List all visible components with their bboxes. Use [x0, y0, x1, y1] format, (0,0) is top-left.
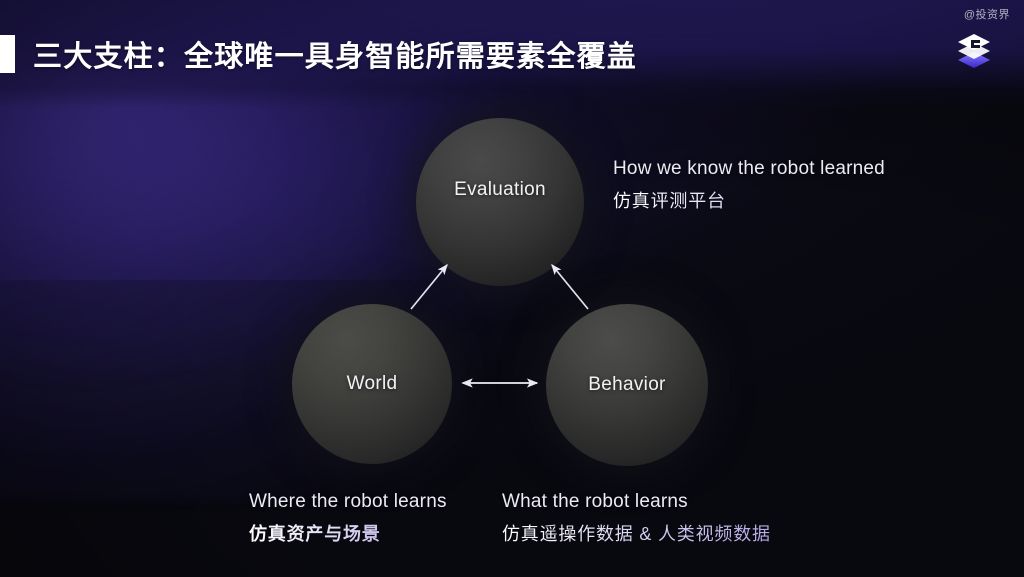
- caption-world: Where the robot learns 仿真资产与场景: [249, 491, 447, 546]
- caption-behavior-english: What the robot learns: [502, 491, 771, 513]
- caption-world-english: Where the robot learns: [249, 491, 447, 513]
- slide-canvas: 三大支柱：全球唯一具身智能所需要素全覆盖 @投资界 Evaluation Wo: [0, 0, 1024, 577]
- caption-behavior-chinese: 仿真遥操作数据 & 人类视频数据: [502, 520, 771, 546]
- node-world-label: World: [347, 373, 398, 395]
- caption-behavior: What the robot learns 仿真遥操作数据 & 人类视频数据: [502, 491, 771, 546]
- caption-evaluation-english: How we know the robot learned: [613, 158, 885, 180]
- caption-world-chinese: 仿真资产与场景: [249, 520, 447, 546]
- node-world[interactable]: World: [292, 304, 452, 464]
- arrow-behavior-to-evaluation: [552, 265, 588, 309]
- caption-evaluation: How we know the robot learned 仿真评测平台: [613, 158, 885, 213]
- caption-evaluation-chinese: 仿真评测平台: [613, 187, 885, 213]
- node-evaluation[interactable]: Evaluation: [416, 118, 584, 286]
- node-behavior[interactable]: Behavior: [546, 304, 708, 466]
- node-behavior-label: Behavior: [588, 374, 665, 396]
- arrow-world-to-evaluation: [411, 265, 447, 309]
- node-evaluation-label: Evaluation: [454, 179, 546, 201]
